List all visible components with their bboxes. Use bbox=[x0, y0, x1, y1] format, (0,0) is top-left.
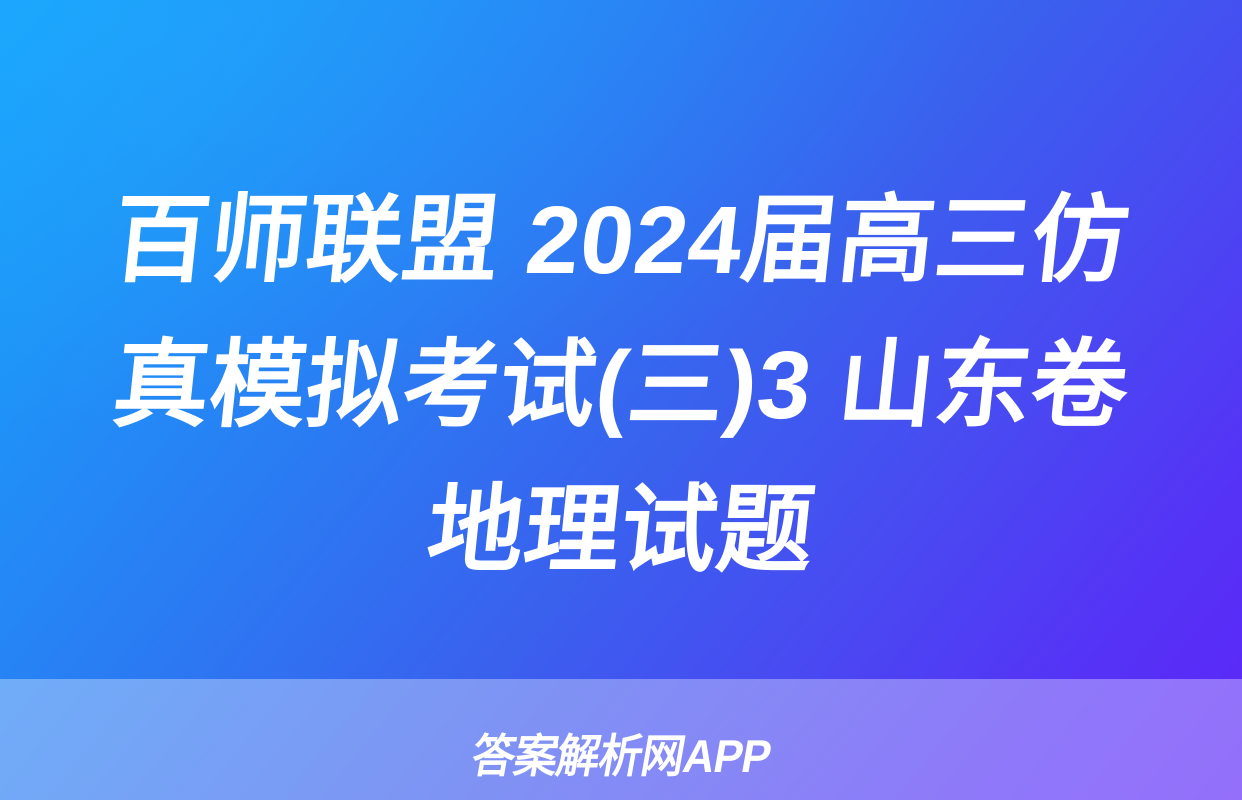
watermark-label: 答案解析网APP bbox=[468, 733, 774, 779]
poster-canvas: 百师联盟 2024届高三仿 真模拟考试(三)3 山东卷 地理试题 答案解析网AP… bbox=[0, 0, 1242, 800]
title-line-1: 百师联盟 2024届高三仿 bbox=[48, 168, 1193, 313]
watermark-band: 答案解析网APP bbox=[0, 679, 1242, 800]
title-line-2: 真模拟考试(三)3 山东卷 bbox=[48, 313, 1193, 458]
page-title: 百师联盟 2024届高三仿 真模拟考试(三)3 山东卷 地理试题 bbox=[0, 168, 1242, 603]
title-line-3: 地理试题 bbox=[48, 458, 1193, 603]
